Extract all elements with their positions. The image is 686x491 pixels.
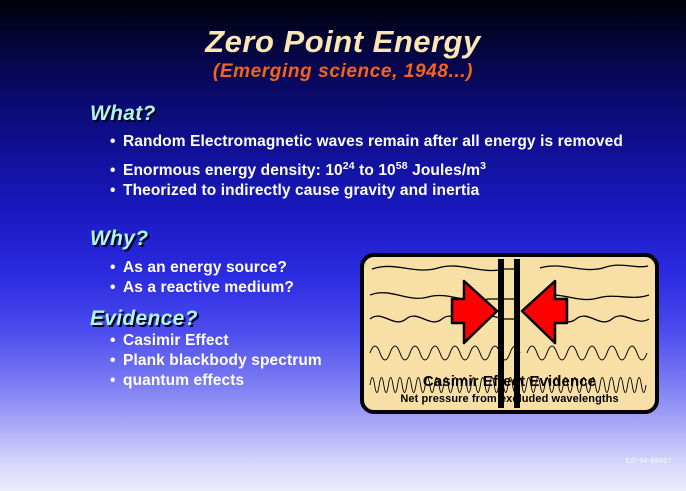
arrow-right-icon <box>522 281 567 343</box>
list-item: Plank blackbody spectrum <box>110 351 322 371</box>
bullet-text: Plank blackbody spectrum <box>123 352 322 369</box>
list-item: As an energy source? <box>110 258 294 278</box>
bullet-text: Theorized to indirectly cause gravity an… <box>123 182 479 199</box>
bullet-text: Casimir Effect <box>123 332 229 349</box>
reference-code: CD-94-68607 <box>626 458 672 465</box>
list-item: Theorized to indirectly cause gravity an… <box>110 181 623 201</box>
title-block: Zero Point Energy (Emerging science, 194… <box>0 26 686 83</box>
wave-row-1 <box>372 265 648 270</box>
bullet-text: As an energy source? <box>123 259 287 276</box>
bullet-text: quantum effects <box>123 372 244 389</box>
bullet-list-what: Random Electromagnetic waves remain afte… <box>110 132 623 201</box>
bullet-text-post: Joules/m <box>408 162 480 179</box>
bullet-text: Enormous energy density: 10 <box>123 162 343 179</box>
bullet-list-why: As an energy source? As a reactive mediu… <box>110 258 294 298</box>
list-item: Enormous energy density: 1024 to 1058 Jo… <box>110 156 623 181</box>
slide-canvas: Zero Point Energy (Emerging science, 194… <box>0 0 686 491</box>
wave-row-2 <box>370 293 649 301</box>
exponent-cubic: 3 <box>480 160 486 172</box>
page-title: Zero Point Energy <box>0 26 686 59</box>
casimir-effect-diagram: Casimir Effect Evidence Net pressure fro… <box>360 253 659 414</box>
list-item: quantum effects <box>110 371 322 391</box>
wave-group-long <box>370 265 649 322</box>
section-heading-why: Why? <box>90 227 148 251</box>
list-item: Random Electromagnetic waves remain afte… <box>110 132 623 152</box>
wave-row-4b <box>527 346 647 360</box>
exponent-lower: 24 <box>343 160 355 172</box>
wave-group-medium <box>370 346 647 360</box>
bullet-list-evidence: Casimir Effect Plank blackbody spectrum … <box>110 331 322 391</box>
wave-row-3 <box>370 316 649 322</box>
diagram-subtitle: Net pressure from excluded wavelengths <box>364 393 655 405</box>
exponent-upper: 58 <box>396 160 408 172</box>
section-heading-evidence: Evidence? <box>90 307 198 331</box>
arrow-left-icon <box>452 281 497 343</box>
list-item: Casimir Effect <box>110 331 322 351</box>
wave-row-4 <box>370 346 520 360</box>
bullet-text: Random Electromagnetic waves remain afte… <box>123 133 623 150</box>
page-subtitle: (Emerging science, 1948...) <box>0 61 686 83</box>
list-item: As a reactive medium? <box>110 278 294 298</box>
bullet-text-mid: to 10 <box>355 162 396 179</box>
diagram-title: Casimir Effect Evidence <box>364 373 655 390</box>
bullet-text: As a reactive medium? <box>123 279 294 296</box>
section-heading-what: What? <box>90 102 156 126</box>
